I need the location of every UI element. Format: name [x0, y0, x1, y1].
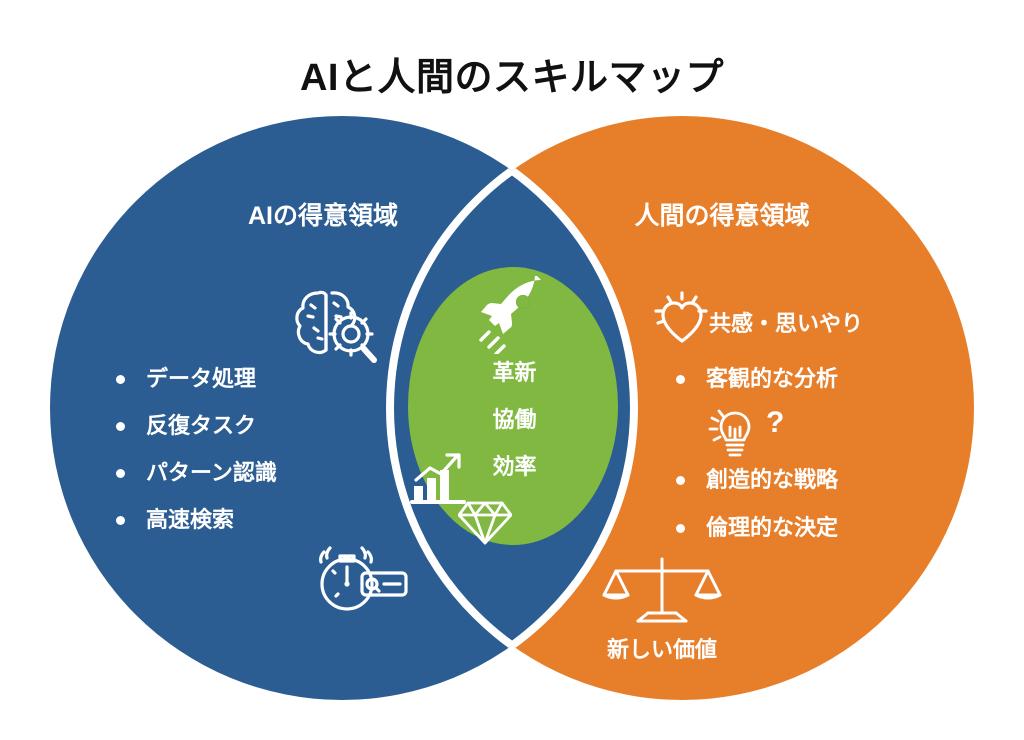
list-item: データ処理: [112, 368, 277, 390]
list-item-label: 倫理的な決定: [706, 515, 838, 540]
list-item: 創造的な戦略: [672, 469, 838, 491]
venn-diagram-canvas: AIと人間のスキルマップ AIの得意領域 人間の得意領域: [0, 0, 1024, 740]
overlap-word: 革新: [412, 362, 617, 384]
list-item: 反復タスク: [112, 415, 277, 437]
bullet-dot: [116, 422, 125, 431]
bottom-caption: 新しい価値: [562, 632, 762, 664]
list-item: 高速検索: [112, 509, 277, 531]
list-item-label: 創造的な戦略: [706, 467, 838, 492]
rocket-icon: [478, 276, 550, 354]
bullet-dot: [676, 524, 685, 533]
list-item-label: パターン認識: [146, 460, 277, 485]
list-item: 客観的な分析: [672, 368, 838, 390]
brain-gear-magnifier-icon: [288, 283, 384, 365]
stopwatch-search-icon: [310, 540, 414, 620]
diamond-icon: [458, 497, 512, 547]
empathy-caption: 共感・思いやり: [709, 306, 863, 338]
bullet-dot: [116, 516, 125, 525]
list-item-label: 客観的な分析: [706, 366, 838, 391]
overlap-word: 協働: [412, 409, 617, 431]
lightbulb-question-line: ?: [712, 408, 784, 438]
bullet-dot: [116, 375, 125, 384]
list-item: 倫理的な決定: [672, 517, 838, 539]
bullet-dot: [116, 469, 125, 478]
question-mark-label: ?: [766, 408, 784, 438]
list-item-label: データ処理: [146, 366, 256, 391]
bullet-dot: [676, 375, 685, 384]
right-circle-label: 人間の得意領域: [592, 196, 852, 232]
left-circle-label: AIの得意領域: [193, 196, 453, 232]
empathy-caption-line: 共感・思いやり: [651, 306, 863, 338]
left-items-list: データ処理 反復タスク パターン認識 高速検索: [112, 368, 277, 556]
list-item-label: 反復タスク: [146, 413, 256, 438]
list-item: パターン認識: [112, 462, 277, 484]
balance-scales-icon: [602, 553, 722, 627]
list-item-label: 高速検索: [146, 507, 234, 532]
bullet-dot: [676, 476, 685, 485]
